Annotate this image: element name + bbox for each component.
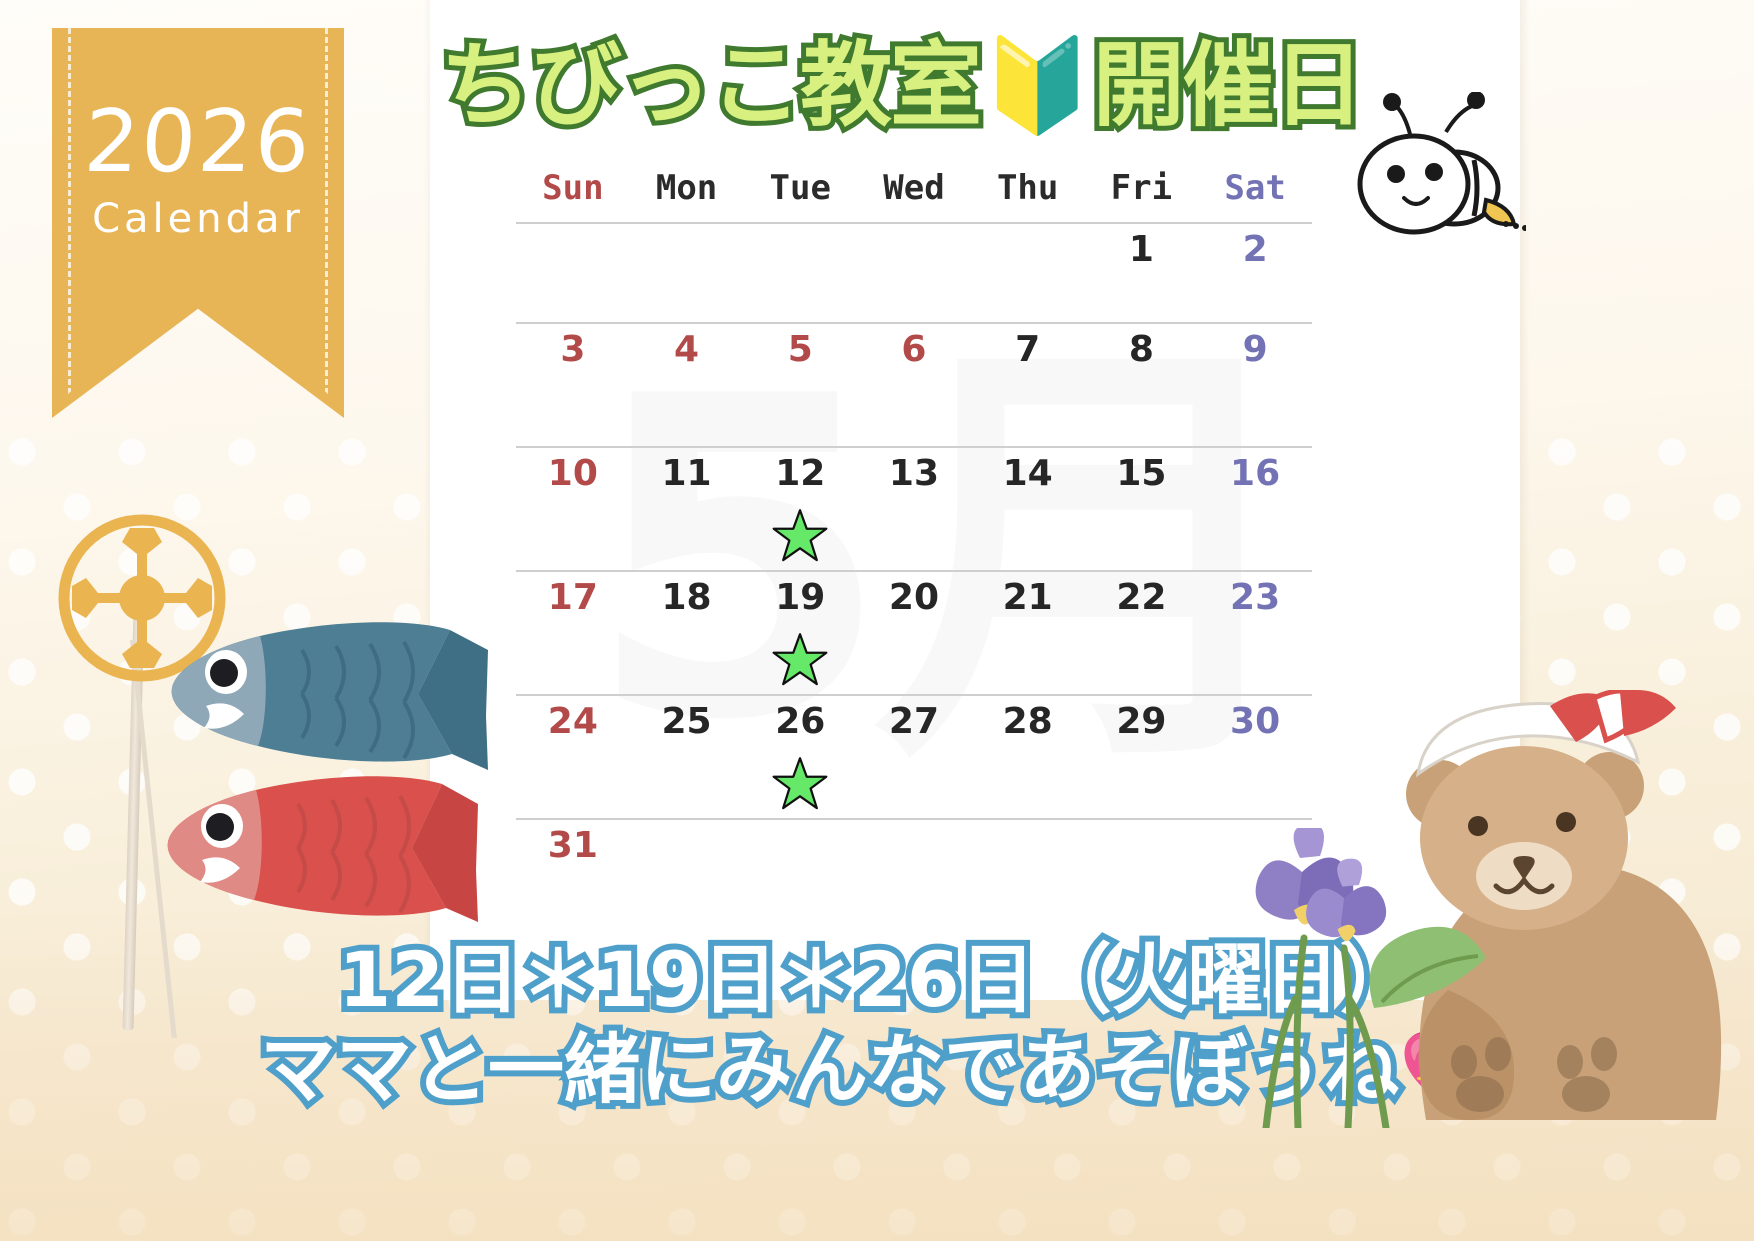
calendar-day-cell[interactable]: 4 bbox=[630, 323, 744, 447]
weekday-header-thu: Thu bbox=[971, 168, 1085, 223]
day-number: 30 bbox=[1198, 704, 1312, 740]
calendar-day-cell[interactable]: 30 bbox=[1198, 695, 1312, 819]
calendar-grid: Sun Mon Tue Wed Thu Fri Sat 123456789101… bbox=[516, 168, 1312, 905]
day-number: 4 bbox=[630, 332, 744, 368]
day-number: 18 bbox=[630, 580, 744, 616]
shoshinsha-beginner-icon: 🔰 bbox=[980, 32, 1093, 139]
calendar-empty-cell bbox=[857, 819, 971, 905]
day-number: 23 bbox=[1198, 580, 1312, 616]
calendar-body: 1234567891011121314151617181920212223242… bbox=[516, 223, 1312, 905]
ribbon-calendar-label: Calendar bbox=[52, 196, 344, 242]
day-number: 29 bbox=[1085, 704, 1199, 740]
day-number: 11 bbox=[630, 456, 744, 492]
calendar-day-cell[interactable]: 9 bbox=[1198, 323, 1312, 447]
day-number: 13 bbox=[857, 456, 971, 492]
day-number: 2 bbox=[1198, 232, 1312, 268]
calendar-day-cell[interactable]: 1 bbox=[1085, 223, 1199, 323]
weekday-header-row: Sun Mon Tue Wed Thu Fri Sat bbox=[516, 168, 1312, 223]
calendar-day-cell[interactable]: 7 bbox=[971, 323, 1085, 447]
calendar-day-cell[interactable]: 16 bbox=[1198, 447, 1312, 571]
event-invite-caption: ママと一緒にみんなであそぼうね💖 bbox=[0, 1008, 1754, 1118]
calendar-day-cell[interactable]: 2 bbox=[1198, 223, 1312, 323]
day-number: 17 bbox=[516, 580, 630, 616]
calendar-empty-cell bbox=[857, 223, 971, 323]
calendar-empty-cell bbox=[743, 819, 857, 905]
day-number: 27 bbox=[857, 704, 971, 740]
calendar-day-cell[interactable]: 3 bbox=[516, 323, 630, 447]
weekday-header-tue: Tue bbox=[743, 168, 857, 223]
calendar-day-cell[interactable]: 11 bbox=[630, 447, 744, 571]
calendar-day-cell[interactable]: 10 bbox=[516, 447, 630, 571]
day-number: 10 bbox=[516, 456, 630, 492]
calendar-day-cell[interactable]: 5 bbox=[743, 323, 857, 447]
calendar-week-row: 10111213141516 bbox=[516, 447, 1312, 571]
calendar-empty-cell bbox=[1085, 819, 1199, 905]
calendar-day-cell[interactable]: 6 bbox=[857, 323, 971, 447]
day-number: 20 bbox=[857, 580, 971, 616]
weekday-header-sun: Sun bbox=[516, 168, 630, 223]
event-star-icon bbox=[772, 508, 828, 564]
calendar-page: 5月 2026 Calendar ちびっこ教室🔰開催日 Sun Mon Tue … bbox=[0, 0, 1754, 1241]
calendar-day-cell[interactable]: 18 bbox=[630, 571, 744, 695]
calendar-week-row: 17181920212223 bbox=[516, 571, 1312, 695]
calendar-empty-cell bbox=[630, 819, 744, 905]
calendar-day-cell[interactable]: 12 bbox=[743, 447, 857, 571]
calendar-empty-cell bbox=[516, 223, 630, 323]
calendar-day-cell[interactable]: 20 bbox=[857, 571, 971, 695]
calendar-day-cell[interactable]: 14 bbox=[971, 447, 1085, 571]
calendar-day-cell[interactable]: 29 bbox=[1085, 695, 1199, 819]
calendar-day-cell[interactable]: 27 bbox=[857, 695, 971, 819]
event-star-icon bbox=[772, 756, 828, 812]
weekday-header-sat: Sat bbox=[1198, 168, 1312, 223]
day-number: 1 bbox=[1085, 232, 1199, 268]
calendar-empty-cell bbox=[630, 223, 744, 323]
calendar-day-cell[interactable]: 8 bbox=[1085, 323, 1199, 447]
weekday-header-mon: Mon bbox=[630, 168, 744, 223]
day-number: 5 bbox=[743, 332, 857, 368]
day-number: 22 bbox=[1085, 580, 1199, 616]
day-number: 25 bbox=[630, 704, 744, 740]
calendar-day-cell[interactable]: 26 bbox=[743, 695, 857, 819]
day-number: 8 bbox=[1085, 332, 1199, 368]
day-number: 15 bbox=[1085, 456, 1199, 492]
day-number: 9 bbox=[1198, 332, 1312, 368]
title-text-before: ちびっこ教室 bbox=[440, 32, 980, 139]
invite-text: ママと一緒にみんなであそぼうね bbox=[260, 1025, 1399, 1114]
day-number: 14 bbox=[971, 456, 1085, 492]
weekday-header-fri: Fri bbox=[1085, 168, 1199, 223]
calendar-day-cell[interactable]: 13 bbox=[857, 447, 971, 571]
page-title: ちびっこ教室🔰開催日 bbox=[440, 38, 1340, 135]
title-text-after: 開催日 bbox=[1093, 32, 1363, 139]
weekday-header-wed: Wed bbox=[857, 168, 971, 223]
day-number: 16 bbox=[1198, 456, 1312, 492]
calendar-empty-cell bbox=[743, 223, 857, 323]
calendar-empty-cell bbox=[1198, 819, 1312, 905]
day-number: 7 bbox=[971, 332, 1085, 368]
calendar-empty-cell bbox=[971, 819, 1085, 905]
sparkling-heart-icon: 💖 bbox=[1399, 1025, 1494, 1114]
calendar-day-cell[interactable]: 22 bbox=[1085, 571, 1199, 695]
calendar-day-cell[interactable]: 15 bbox=[1085, 447, 1199, 571]
day-number: 12 bbox=[743, 456, 857, 492]
day-number: 24 bbox=[516, 704, 630, 740]
calendar-day-cell[interactable]: 24 bbox=[516, 695, 630, 819]
day-number: 21 bbox=[971, 580, 1085, 616]
calendar-day-cell[interactable]: 25 bbox=[630, 695, 744, 819]
calendar-day-cell[interactable]: 31 bbox=[516, 819, 630, 905]
day-number: 6 bbox=[857, 332, 971, 368]
calendar-week-row: 12 bbox=[516, 223, 1312, 323]
event-star-icon bbox=[772, 632, 828, 688]
calendar-week-row: 3456789 bbox=[516, 323, 1312, 447]
calendar-day-cell[interactable]: 23 bbox=[1198, 571, 1312, 695]
calendar-week-row: 24252627282930 bbox=[516, 695, 1312, 819]
day-number: 31 bbox=[516, 828, 630, 864]
calendar-empty-cell bbox=[971, 223, 1085, 323]
calendar-day-cell[interactable]: 21 bbox=[971, 571, 1085, 695]
calendar-day-cell[interactable]: 19 bbox=[743, 571, 857, 695]
card-shadow-right bbox=[1520, 0, 1530, 1000]
calendar-table: Sun Mon Tue Wed Thu Fri Sat 123456789101… bbox=[516, 168, 1312, 905]
calendar-week-row: 31 bbox=[516, 819, 1312, 905]
day-number: 19 bbox=[743, 580, 857, 616]
day-number: 26 bbox=[743, 704, 857, 740]
calendar-day-cell[interactable]: 17 bbox=[516, 571, 630, 695]
day-number: 28 bbox=[971, 704, 1085, 740]
ribbon-year-label: 2026 bbox=[49, 92, 346, 192]
day-number: 3 bbox=[516, 332, 630, 368]
calendar-day-cell[interactable]: 28 bbox=[971, 695, 1085, 819]
